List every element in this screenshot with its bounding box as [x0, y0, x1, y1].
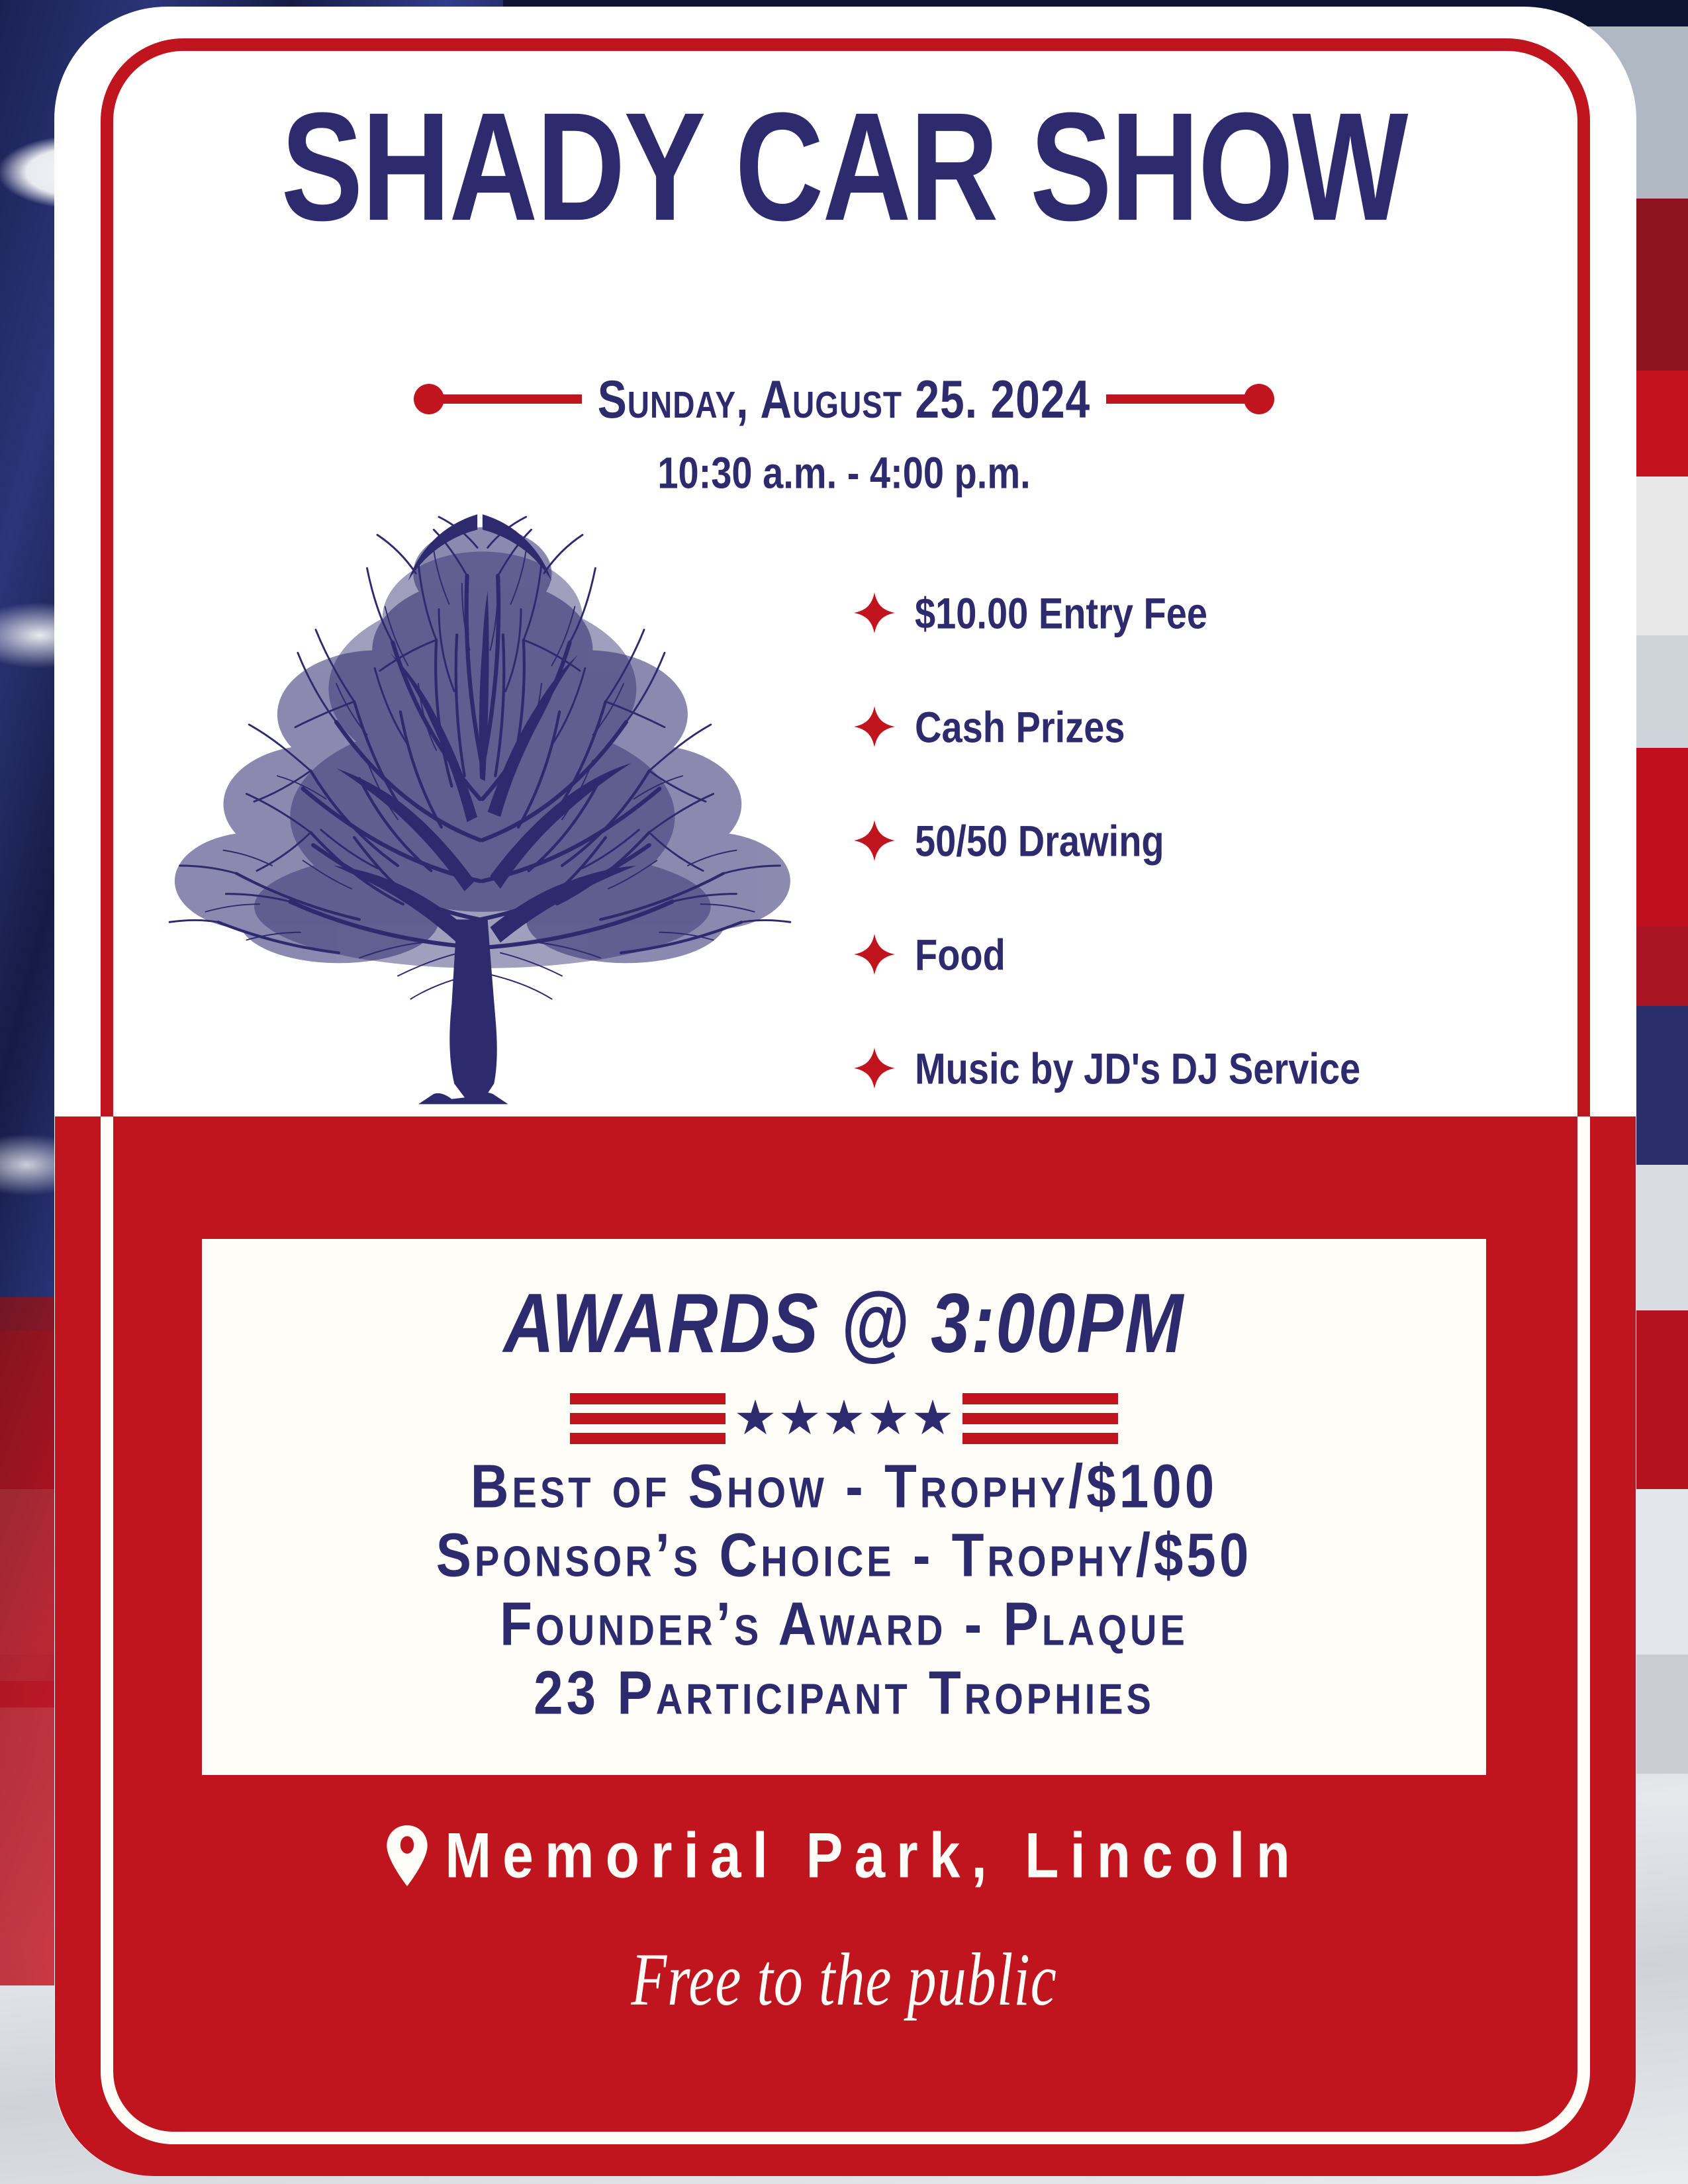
- stripe: [962, 1433, 1118, 1444]
- stripe: [962, 1393, 1118, 1404]
- stripe: [570, 1413, 726, 1424]
- list-item: Cash Prizes: [854, 670, 1582, 784]
- date-rule-left: [430, 394, 582, 404]
- event-date: Sunday, August 25. 2024: [598, 369, 1091, 430]
- star-icon: [869, 1400, 908, 1438]
- star-icon: [914, 1400, 952, 1438]
- tree-silhouette-icon: [142, 496, 818, 1112]
- event-flyer: SHADY CAR SHOW Sunday, August 25. 2024 1…: [0, 0, 1688, 2184]
- diamond-bullet-icon: [854, 934, 895, 975]
- star-icon: [825, 1400, 863, 1438]
- stripe: [570, 1393, 726, 1404]
- divider-stripes-right: [962, 1393, 1118, 1444]
- diamond-bullet-icon: [854, 820, 895, 861]
- diamond-bullet-icon: [854, 706, 895, 747]
- star-icon: [736, 1400, 774, 1438]
- stars-and-stripes-divider: [202, 1393, 1486, 1444]
- list-item: Food: [854, 897, 1582, 1011]
- list-item: $10.00 Entry Fee: [854, 556, 1582, 670]
- tree-artwork: [126, 486, 834, 1112]
- admission-tagline: Free to the public: [68, 1936, 1620, 2023]
- feature-label: $10.00 Entry Fee: [915, 588, 1207, 639]
- feature-label: 50/50 Drawing: [915, 815, 1164, 866]
- content-row: $10.00 Entry Fee Cash Prizes 50/50 Drawi…: [126, 486, 1582, 1112]
- page-title: SHADY CAR SHOW: [0, 89, 1688, 244]
- event-date-row: Sunday, August 25. 2024: [0, 374, 1688, 424]
- stripe: [570, 1433, 726, 1444]
- features-list: $10.00 Entry Fee Cash Prizes 50/50 Drawi…: [834, 486, 1582, 1112]
- award-line: Best of Show - Trophy/$100: [202, 1456, 1486, 1518]
- star-icon: [780, 1400, 819, 1438]
- map-pin-icon: [387, 1825, 428, 1886]
- venue-name: Memorial Park, Lincoln: [445, 1819, 1301, 1893]
- award-line: Sponsor’s Choice - Trophy/$50: [202, 1525, 1486, 1586]
- diamond-bullet-icon: [854, 592, 895, 633]
- date-rule-dot-right: [1244, 384, 1274, 414]
- feature-label: Cash Prizes: [915, 702, 1125, 752]
- list-item: 50/50 Drawing: [854, 784, 1582, 897]
- award-line: Founder’s Award - Plaque: [202, 1594, 1486, 1655]
- feature-label: Food: [915, 929, 1006, 980]
- venue-row: Memorial Park, Lincoln: [0, 1823, 1688, 1888]
- divider-stars: [736, 1400, 952, 1438]
- awards-panel: AWARDS @ 3:00PM Best of Show - Trophy/$1…: [202, 1239, 1486, 1775]
- feature-label: Music by JD's DJ Service: [915, 1043, 1360, 1094]
- divider-stripes-left: [570, 1393, 726, 1444]
- stripe: [962, 1413, 1118, 1424]
- awards-heading: AWARDS @ 3:00PM: [202, 1276, 1486, 1372]
- date-rule-dot-left: [414, 384, 444, 414]
- date-rule-right: [1106, 394, 1258, 404]
- diamond-bullet-icon: [854, 1048, 895, 1089]
- list-item: Music by JD's DJ Service: [854, 1011, 1582, 1125]
- award-line: 23 Participant Trophies: [202, 1662, 1486, 1724]
